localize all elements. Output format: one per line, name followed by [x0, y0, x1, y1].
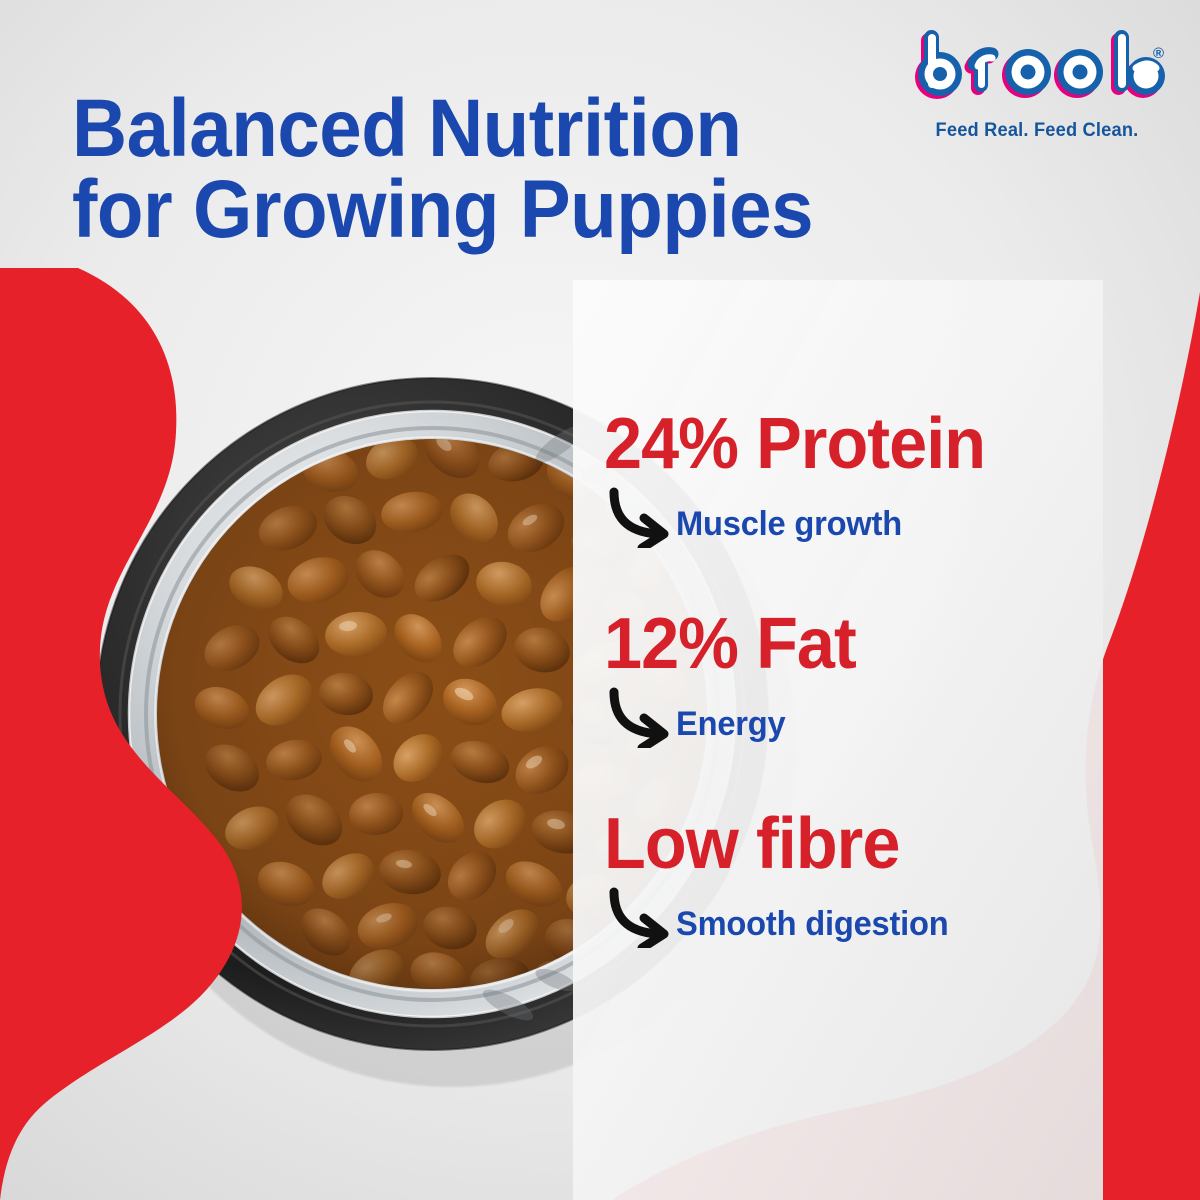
- fact-value-fat: 12% Fat: [604, 608, 1098, 680]
- headline-line-2: for Growing Puppies: [72, 169, 844, 250]
- fact-benefit-fat: Energy: [676, 705, 786, 744]
- fact-value-protein: 24% Protein: [604, 408, 1098, 480]
- curved-arrow-icon: [606, 686, 680, 748]
- curved-arrow-icon: [606, 486, 680, 548]
- fact-item-protein: 24% Protein Muscle growth: [604, 408, 1124, 548]
- fact-benefit-row-fat: Energy: [604, 686, 1124, 748]
- headline-line-1: Balanced Nutrition: [72, 88, 844, 169]
- fact-value-fibre: Low fibre: [604, 808, 1098, 880]
- fact-benefit-fibre: Smooth digestion: [676, 905, 949, 944]
- fact-benefit-protein: Muscle growth: [676, 505, 902, 544]
- page-title: Balanced Nutrition for Growing Puppies: [72, 88, 902, 250]
- nutrition-facts-list: 24% Protein Muscle growth 12% Fat Energy…: [604, 408, 1124, 948]
- drools-wordmark-icon: ®: [908, 24, 1166, 118]
- brand-tagline: Feed Real. Feed Clean.: [913, 120, 1161, 142]
- registered-trademark-icon: ®: [1153, 46, 1164, 61]
- fact-benefit-row-protein: Muscle growth: [604, 486, 1124, 548]
- curved-arrow-icon: [606, 886, 680, 948]
- fact-item-fat: 12% Fat Energy: [604, 608, 1124, 748]
- brand-logo: ® Feed Real. Feed Clean.: [908, 24, 1166, 142]
- fact-item-fibre: Low fibre Smooth digestion: [604, 808, 1124, 948]
- fact-benefit-row-fibre: Smooth digestion: [604, 886, 1124, 948]
- poster-canvas: Balanced Nutrition for Growing Puppies: [0, 0, 1200, 1200]
